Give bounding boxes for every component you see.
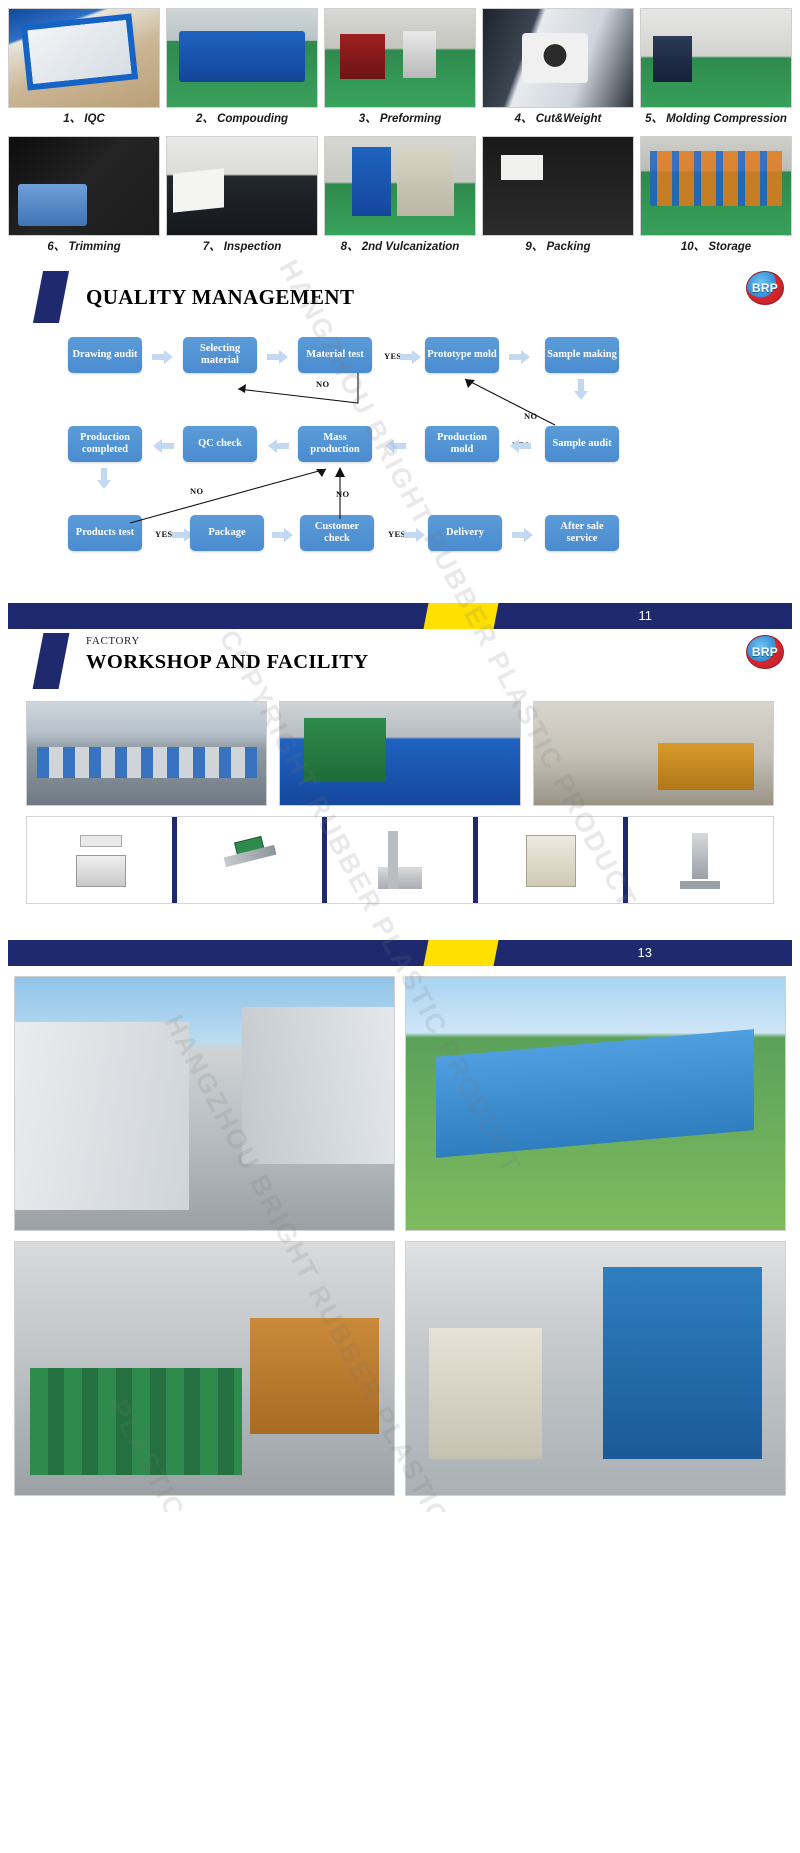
flow-box-sample-audit[interactable]: Sample audit [545,426,619,462]
process-step: 2、 Compouding [166,8,318,132]
instrument-electronic-balance [27,817,172,903]
flow-arrow-down-icon [96,468,112,490]
flow-connector-no-1 [230,371,360,411]
process-row-1: 1、 IQC 2、 Compouding 3、 Preforming 4、 Cu… [8,8,792,132]
photo-storage [640,136,792,236]
flow-box-selecting-material[interactable]: Selecting material [183,337,257,373]
brp-logo: BRP [746,271,784,305]
instrument-gallery [0,806,800,904]
process-step-label: 5、 Molding Compression [640,108,792,132]
page-title: WORKSHOP AND FACILITY [86,651,369,674]
banner-accent-chip [423,940,498,966]
accent-slab [33,633,70,689]
section-eyebrow: FACTORY [86,635,140,647]
flow-box-mass-production[interactable]: Mass production [298,426,372,462]
process-step: 3、 Preforming [324,8,476,132]
flow-label-no-1: NO [316,379,329,389]
process-step-label: 7、 Inspection [166,236,318,260]
flow-arrow-right-icon [267,349,289,365]
process-step: 8、 2nd Vulcanization [324,136,476,260]
brp-logo-text: BRP [752,645,778,659]
flow-label-no-4: NO [336,489,349,499]
workshop-section-header: FACTORY WORKSHOP AND FACILITY BRP [0,629,800,693]
photo-packing [482,136,634,236]
instrument-aging-oven [478,817,623,903]
page-banner-13: 13 [8,940,792,966]
process-step: 4、 Cut&Weight [482,8,634,132]
instrument-hardness-tester [628,817,773,903]
flow-box-after-sale-service[interactable]: After sale service [545,515,619,551]
photo-preforming [324,8,476,108]
flow-box-sample-making[interactable]: Sample making [545,337,619,373]
process-gallery: 1、 IQC 2、 Compouding 3、 Preforming 4、 Cu… [0,0,800,261]
facility-photo-gallery [0,966,800,1512]
process-step-label: 3、 Preforming [324,108,476,132]
quality-management-header: QUALITY MANAGEMENT BRP [0,265,800,323]
page-root: HANGZHOU BRIGHT RUBBER PLASTIC PRODUCT C… [0,0,800,1512]
banner-accent-chip [423,603,498,629]
brp-logo: BRP [746,635,784,669]
flow-arrow-right-icon [400,349,422,365]
flow-label-yes-3: YES [155,529,172,539]
process-step: 1、 IQC [8,8,160,132]
process-step: 5、 Molding Compression [640,8,792,132]
page-banner-11: 11 [8,603,792,629]
photo-production-hall [26,701,267,806]
page-number: 13 [638,945,652,960]
flow-arrow-left-icon [267,438,289,454]
flow-arrow-right-icon [272,527,294,543]
process-step: 10、 Storage [640,136,792,260]
photo-cut-weight [482,8,634,108]
instrument-digital-caliper [177,817,322,903]
flow-label-yes-1: YES [384,351,401,361]
flow-box-prototype-mold[interactable]: Prototype mold [425,337,499,373]
flow-connector-no-3 [128,463,338,525]
process-step-label: 1、 IQC [8,108,160,132]
flow-box-qc-check[interactable]: QC check [183,426,257,462]
workshop-photo-gallery [0,693,800,806]
photo-factory-aerial [405,976,786,1231]
instrument-tensile-tester [327,817,472,903]
flow-arrow-left-icon [152,438,174,454]
flow-arrow-right-icon [404,527,426,543]
process-step-label: 6、 Trimming [8,236,160,260]
flow-box-production-mold[interactable]: Production mold [425,426,499,462]
photo-warehouse [533,701,774,806]
photo-compounding [166,8,318,108]
page-title: QUALITY MANAGEMENT [86,285,354,310]
process-step: 6、 Trimming [8,136,160,260]
photo-trimming [8,136,160,236]
brp-logo-text: BRP [752,281,778,295]
page-number: 11 [639,608,653,623]
flow-arrow-down-icon [573,379,589,401]
quality-flowchart: Drawing audit Selecting material Materia… [0,323,800,593]
process-step-label: 10、 Storage [640,236,792,260]
photo-iqc [8,8,160,108]
photo-2nd-vulcanization [324,136,476,236]
flow-box-drawing-audit[interactable]: Drawing audit [68,337,142,373]
flow-connector-no-2 [455,373,565,428]
flow-label-no-3: NO [190,486,203,496]
photo-workshop-interior-2 [405,1241,786,1496]
process-step-label: 8、 2nd Vulcanization [324,236,476,260]
flow-label-yes-4: YES [388,529,405,539]
flow-arrow-right-icon [509,349,531,365]
facility-photo-grid [14,976,786,1496]
flow-label-no-2: NO [524,411,537,421]
flow-arrow-left-icon [384,438,406,454]
process-step-label: 9、 Packing [482,236,634,260]
flow-box-material-test[interactable]: Material test [298,337,372,373]
process-step: 9、 Packing [482,136,634,260]
process-step: 7、 Inspection [166,136,318,260]
instrument-row [26,816,774,904]
flow-arrow-right-icon [512,527,534,543]
photo-molding-compression [640,8,792,108]
process-step-label: 2、 Compouding [166,108,318,132]
accent-slab [33,271,69,323]
photo-factory-alley [14,976,395,1231]
process-step-label: 4、 Cut&Weight [482,108,634,132]
photo-press-line [279,701,520,806]
flow-arrow-right-icon [152,349,174,365]
flow-arrow-left-icon [509,438,531,454]
photo-workshop-interior-1 [14,1241,395,1496]
photo-inspection [166,136,318,236]
process-row-2: 6、 Trimming 7、 Inspection 8、 2nd Vulcani… [8,136,792,260]
flow-box-delivery[interactable]: Delivery [428,515,502,551]
workshop-photo-row [26,701,774,806]
flow-box-production-completed[interactable]: Production completed [68,426,142,462]
